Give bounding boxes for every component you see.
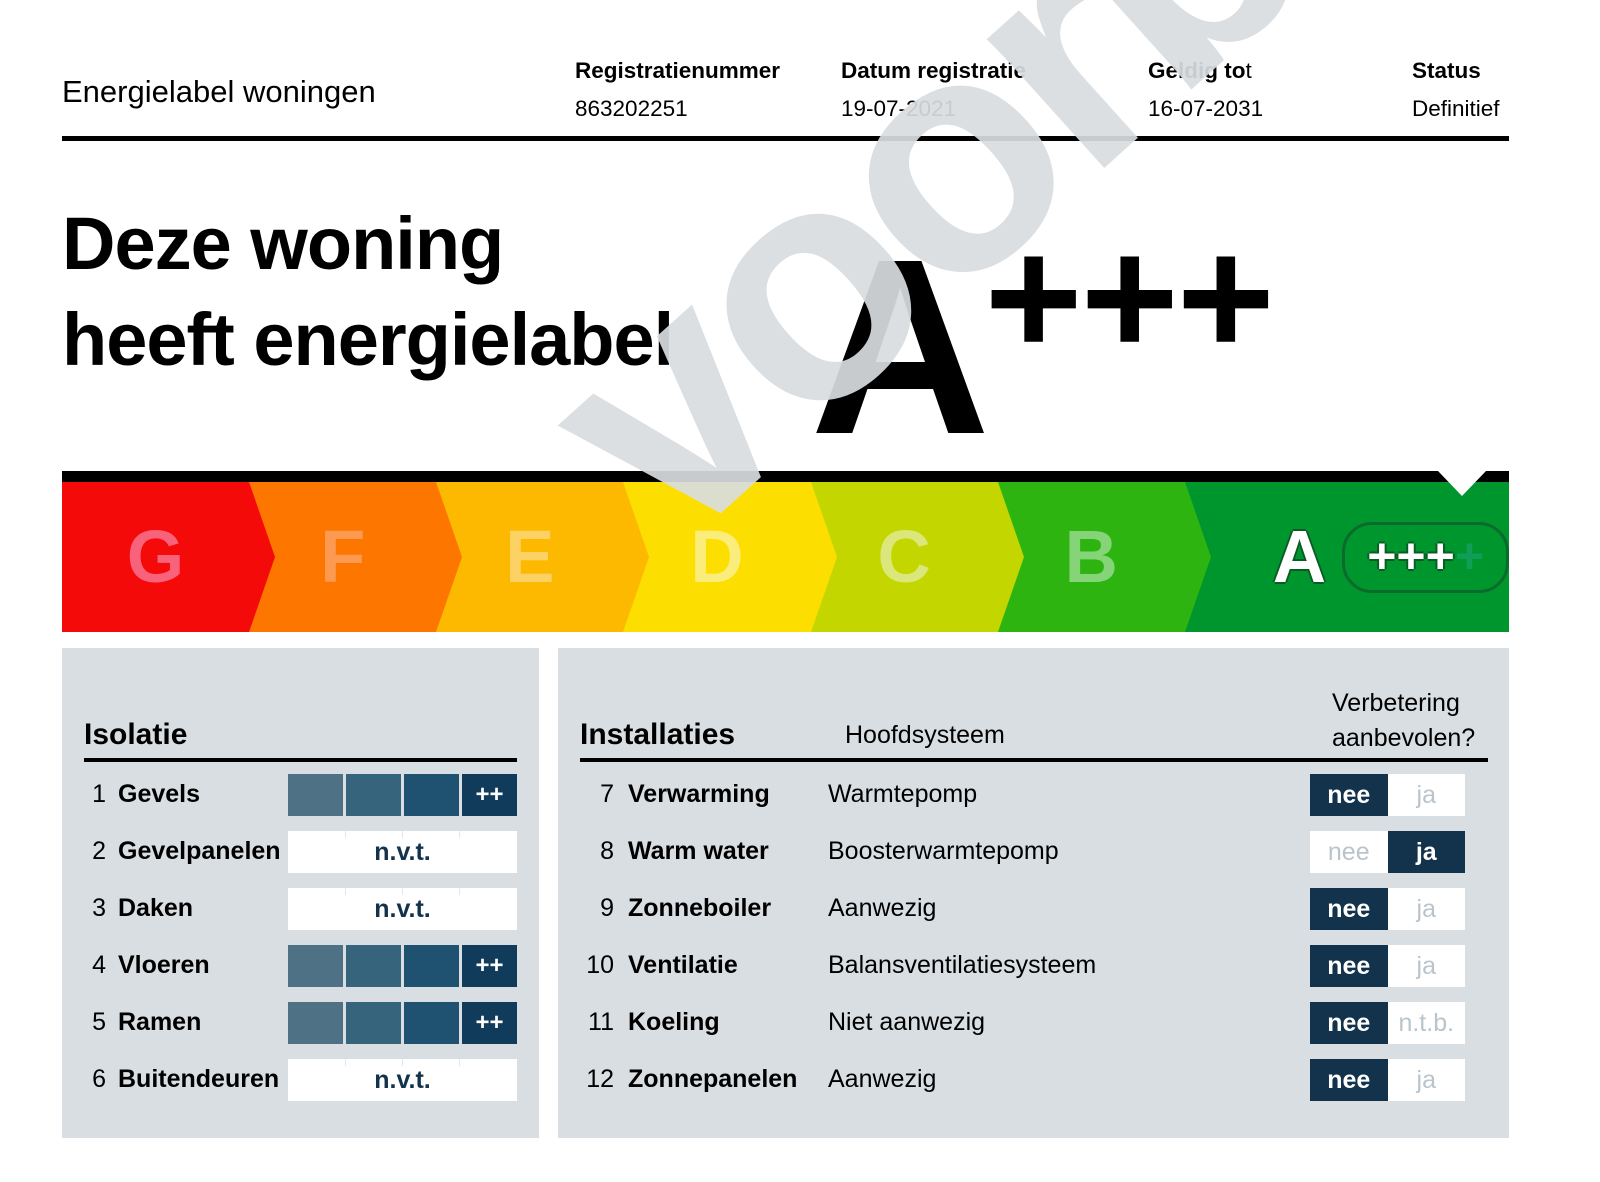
energy-label-plus: +++ bbox=[985, 203, 1273, 391]
panel-isolatie-head: Isolatie bbox=[84, 696, 517, 752]
toggle-option-ja[interactable]: ja bbox=[1388, 888, 1466, 930]
scale-segment-e: E bbox=[436, 482, 623, 632]
isolatie-row-label: Gevels bbox=[118, 766, 200, 823]
installatie-row-number: 8 bbox=[580, 823, 614, 880]
installatie-row-number: 9 bbox=[580, 880, 614, 937]
meter-cell bbox=[346, 945, 401, 987]
scale-segment-letter-a: A bbox=[1273, 520, 1326, 594]
scale-notch-icon-a bbox=[1185, 482, 1211, 632]
meta-geldig-tot: Geldig tot 16-07-2031 bbox=[1148, 56, 1263, 124]
toggle-option-nee[interactable]: nee bbox=[1310, 1002, 1388, 1044]
meter-cell bbox=[404, 1002, 459, 1044]
verbetering-toggle[interactable]: nee ja bbox=[1310, 888, 1465, 930]
table-row: 5 Ramen ++ bbox=[62, 994, 539, 1051]
toggle-option-nee[interactable]: nee bbox=[1310, 945, 1388, 987]
document-header: Energielabel woningen Registratienummer … bbox=[62, 48, 1509, 140]
meter-cell bbox=[288, 945, 343, 987]
meter-cell bbox=[404, 774, 459, 816]
isolatie-rating-meter: ++ bbox=[288, 945, 517, 987]
panel-installaties-head: Installaties Hoofdsysteem Verbetering aa… bbox=[580, 696, 1487, 752]
meter-divider bbox=[459, 831, 460, 838]
panel-isolatie: Isolatie 1 Gevels ++ 2 Gevelpanelen bbox=[62, 648, 539, 1138]
meter-cell bbox=[288, 774, 343, 816]
installatie-row-label: Zonnepanelen bbox=[628, 1051, 797, 1108]
column-header-hoofdsysteem: Hoofdsysteem bbox=[845, 718, 1005, 752]
toggle-option-nee[interactable]: nee bbox=[1310, 888, 1388, 930]
column-header-verbetering: Verbetering aanbevolen? bbox=[1332, 686, 1522, 756]
table-row: 3 Daken n.v.t. bbox=[62, 880, 539, 937]
energy-label-big: A+++ bbox=[810, 172, 1273, 472]
meter-cell bbox=[404, 945, 459, 987]
isolatie-row-number: 5 bbox=[84, 994, 106, 1051]
meter-cell-badge: ++ bbox=[462, 774, 517, 816]
installatie-row-label: Koeling bbox=[628, 994, 720, 1051]
meter-cell-badge: ++ bbox=[462, 945, 517, 987]
toggle-option-nee[interactable]: nee bbox=[1310, 774, 1388, 816]
installatie-row-label: Warm water bbox=[628, 823, 769, 880]
verbetering-toggle[interactable]: nee ja bbox=[1310, 774, 1465, 816]
scale-segment-letter-g: G bbox=[127, 520, 185, 594]
meter-divider bbox=[345, 831, 346, 838]
table-row: 8 Warm water Boosterwarmtepomp nee ja bbox=[558, 823, 1509, 880]
table-row: 11 Koeling Niet aanwezig nee n.t.b. bbox=[558, 994, 1509, 1051]
detail-panels: Isolatie 1 Gevels ++ 2 Gevelpanelen bbox=[62, 648, 1509, 1138]
isolatie-row-label: Ramen bbox=[118, 994, 201, 1051]
meta-geldig-tot-label: Geldig tot bbox=[1148, 56, 1263, 86]
table-row: 2 Gevelpanelen n.v.t. bbox=[62, 823, 539, 880]
meta-status: Status Definitief bbox=[1412, 56, 1500, 124]
scale-top-bar bbox=[62, 471, 1509, 482]
meter-divider bbox=[345, 1059, 346, 1066]
toggle-option-nee[interactable]: nee bbox=[1310, 831, 1388, 873]
table-row: 12 Zonnepanelen Aanwezig nee ja bbox=[558, 1051, 1509, 1108]
panel-isolatie-divider bbox=[84, 758, 517, 762]
isolatie-row-label: Buitendeuren bbox=[118, 1051, 279, 1108]
scale-notch-icon-b bbox=[998, 482, 1024, 632]
isolatie-rating-nvt: n.v.t. bbox=[288, 831, 517, 873]
scale-segment-a-active: A ++++ bbox=[1185, 482, 1509, 632]
meta-geldig-tot-label-bold: Geldig to bbox=[1148, 58, 1246, 83]
hero-section: Deze woning heeft energielabel A+++ bbox=[62, 196, 1509, 411]
isolatie-row-number: 2 bbox=[84, 823, 106, 880]
meter-divider bbox=[402, 888, 403, 895]
table-row: 6 Buitendeuren n.v.t. bbox=[62, 1051, 539, 1108]
scale-segment-b: B bbox=[998, 482, 1185, 632]
scale-segment-letter-e: E bbox=[505, 520, 554, 594]
isolatie-rating-meter: ++ bbox=[288, 1002, 517, 1044]
scale-notch-icon-e bbox=[436, 482, 462, 632]
meta-status-value: Definitief bbox=[1412, 94, 1500, 124]
scale-notch-icon-d bbox=[623, 482, 649, 632]
verbetering-toggle[interactable]: nee ja bbox=[1310, 945, 1465, 987]
installatie-row-system: Balansventilatiesysteem bbox=[828, 937, 1096, 994]
meter-divider bbox=[402, 1059, 403, 1066]
scale-segment-letter-d: D bbox=[690, 520, 743, 594]
installatie-row-label: Verwarming bbox=[628, 766, 770, 823]
scale-marker-inner-icon bbox=[1438, 471, 1486, 496]
isolatie-rating-nvt: n.v.t. bbox=[288, 1059, 517, 1101]
installatie-row-number: 12 bbox=[580, 1051, 614, 1108]
installatie-row-label: Zonneboiler bbox=[628, 880, 771, 937]
table-row: 4 Vloeren ++ bbox=[62, 937, 539, 994]
installatie-row-label: Ventilatie bbox=[628, 937, 738, 994]
scale-segment-c: C bbox=[811, 482, 998, 632]
energy-label-page: Energielabel woningen Registratienummer … bbox=[0, 0, 1600, 1182]
verbetering-toggle[interactable]: nee ja bbox=[1310, 1059, 1465, 1101]
meta-datum-registratie: Datum registratie 19-07-2021 bbox=[841, 56, 1026, 124]
isolatie-row-number: 4 bbox=[84, 937, 106, 994]
isolatie-row-number: 3 bbox=[84, 880, 106, 937]
scale-segment-letter-c: C bbox=[877, 520, 930, 594]
scale-plus-on: +++ bbox=[1367, 528, 1455, 584]
scale-segment-g: G bbox=[62, 482, 249, 632]
header-divider bbox=[62, 136, 1509, 141]
isolatie-row-number: 1 bbox=[84, 766, 106, 823]
installaties-rows: 7 Verwarming Warmtepomp nee ja 8 Warm wa… bbox=[558, 766, 1509, 1108]
installatie-row-number: 10 bbox=[580, 937, 614, 994]
scale-segment-f: F bbox=[249, 482, 436, 632]
meter-cell bbox=[288, 1002, 343, 1044]
table-row: 9 Zonneboiler Aanwezig nee ja bbox=[558, 880, 1509, 937]
scale-plus-pill: ++++ bbox=[1342, 522, 1509, 593]
isolatie-rating-meter: ++ bbox=[288, 774, 517, 816]
scale-plus-off: + bbox=[1455, 528, 1484, 584]
scale-segments: G F E D C B A bbox=[62, 482, 1509, 632]
meter-divider bbox=[459, 888, 460, 895]
meta-geldig-tot-label-light: t bbox=[1246, 58, 1252, 83]
table-row: 7 Verwarming Warmtepomp nee ja bbox=[558, 766, 1509, 823]
panel-installaties-divider bbox=[580, 758, 1488, 762]
meter-cell bbox=[346, 774, 401, 816]
scale-segment-letter-b: B bbox=[1064, 520, 1117, 594]
isolatie-row-label: Gevelpanelen bbox=[118, 823, 281, 880]
meta-registratienummer-value: 863202251 bbox=[575, 94, 780, 124]
installatie-row-system: Niet aanwezig bbox=[828, 994, 985, 1051]
page-title: Deze woning heeft energielabel bbox=[62, 196, 673, 388]
isolatie-row-label: Vloeren bbox=[118, 937, 210, 994]
installatie-row-number: 7 bbox=[580, 766, 614, 823]
meter-divider bbox=[459, 1059, 460, 1066]
document-type-title: Energielabel woningen bbox=[62, 74, 376, 110]
meta-datum-registratie-label: Datum registratie bbox=[841, 56, 1026, 86]
scale-notch-icon-f bbox=[249, 482, 275, 632]
installatie-row-system: Boosterwarmtepomp bbox=[828, 823, 1059, 880]
meta-geldig-tot-value: 16-07-2031 bbox=[1148, 94, 1263, 124]
page-title-line1: Deze woning bbox=[62, 202, 503, 285]
page-title-line2: heeft energielabel bbox=[62, 298, 673, 381]
isolatie-rating-nvt: n.v.t. bbox=[288, 888, 517, 930]
installatie-row-system: Warmtepomp bbox=[828, 766, 977, 823]
verbetering-toggle[interactable]: nee ja bbox=[1310, 831, 1465, 873]
toggle-option-ja[interactable]: ja bbox=[1388, 831, 1466, 873]
energy-label-letter: A bbox=[810, 207, 985, 486]
scale-segment-d: D bbox=[623, 482, 810, 632]
energy-scale: G F E D C B A bbox=[62, 471, 1509, 632]
meta-status-label: Status bbox=[1412, 56, 1500, 86]
meter-divider bbox=[402, 831, 403, 838]
isolatie-row-label: Daken bbox=[118, 880, 193, 937]
meta-registratienummer-label: Registratienummer bbox=[575, 56, 780, 86]
panel-installaties-title: Installaties bbox=[580, 718, 735, 752]
isolatie-row-number: 6 bbox=[84, 1051, 106, 1108]
meter-cell-badge: ++ bbox=[462, 1002, 517, 1044]
toggle-option-ja[interactable]: ja bbox=[1388, 774, 1466, 816]
meter-divider bbox=[345, 888, 346, 895]
installatie-row-system: Aanwezig bbox=[828, 880, 936, 937]
scale-notch-icon-c bbox=[811, 482, 837, 632]
meta-registratienummer: Registratienummer 863202251 bbox=[575, 56, 780, 124]
table-row: 1 Gevels ++ bbox=[62, 766, 539, 823]
installatie-row-number: 11 bbox=[580, 994, 614, 1051]
toggle-option-ntb[interactable]: n.t.b. bbox=[1388, 1002, 1466, 1044]
installatie-row-system: Aanwezig bbox=[828, 1051, 936, 1108]
panel-installaties: Installaties Hoofdsysteem Verbetering aa… bbox=[558, 648, 1509, 1138]
table-row: 10 Ventilatie Balansventilatiesysteem ne… bbox=[558, 937, 1509, 994]
panel-isolatie-title: Isolatie bbox=[84, 718, 187, 752]
meta-datum-registratie-value: 19-07-2021 bbox=[841, 94, 1026, 124]
meter-cell bbox=[346, 1002, 401, 1044]
toggle-option-nee[interactable]: nee bbox=[1310, 1059, 1388, 1101]
toggle-option-ja[interactable]: ja bbox=[1388, 1059, 1466, 1101]
verbetering-toggle[interactable]: nee n.t.b. bbox=[1310, 1002, 1465, 1044]
isolatie-rows: 1 Gevels ++ 2 Gevelpanelen bbox=[62, 766, 539, 1108]
toggle-option-ja[interactable]: ja bbox=[1388, 945, 1466, 987]
scale-segment-letter-f: F bbox=[320, 520, 365, 594]
